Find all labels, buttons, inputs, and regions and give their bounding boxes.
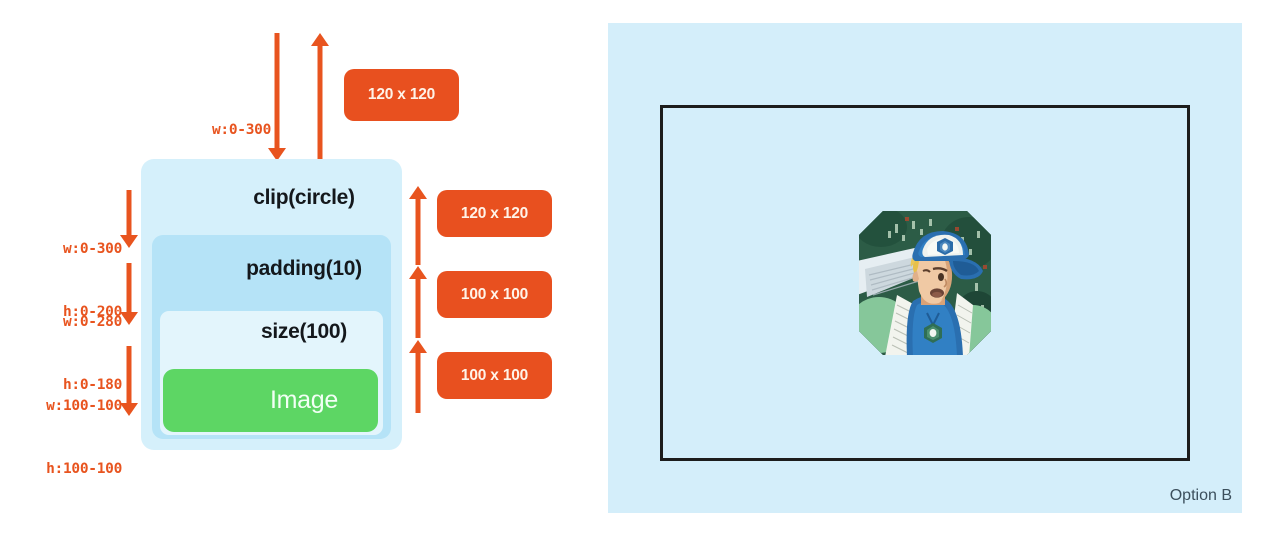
arrow-down-padding-to-size <box>120 263 138 325</box>
arrow-shaft <box>416 277 421 338</box>
badge-resolved-padding: 100 x 100 <box>437 271 552 318</box>
diagram-canvas: w:0-300 h:0-200 120 x 120 clip(circle) p… <box>0 0 1272 534</box>
arrow-shaft <box>318 44 323 161</box>
arrow-shaft <box>127 263 132 314</box>
arrow-down-clip-to-padding <box>120 190 138 248</box>
arrow-head <box>409 266 427 279</box>
constraint-width-size: w:100-100 <box>8 396 122 417</box>
arrow-shaft <box>275 33 280 150</box>
arrow-up-clip-resolved <box>409 186 427 265</box>
constraint-height-size: h:100-100 <box>8 459 122 480</box>
badge-resolved-top: 120 x 120 <box>344 69 459 121</box>
preview-frame-border <box>660 105 1190 461</box>
arrow-up-size-out <box>311 33 329 161</box>
arrow-down-size-to-image <box>120 346 138 416</box>
arrow-head <box>120 235 138 248</box>
arrow-up-size-resolved <box>409 340 427 413</box>
badge-resolved-clip: 120 x 120 <box>437 190 552 237</box>
arrow-head <box>120 312 138 325</box>
arrow-head <box>409 340 427 353</box>
arrow-head <box>120 403 138 416</box>
arrow-head <box>311 33 329 46</box>
preview-panel: Option B <box>608 23 1242 513</box>
constraint-width-incoming: w:0-300 <box>165 120 271 141</box>
constraint-width-clip: w:0-300 <box>22 239 122 260</box>
arrow-shaft <box>127 346 132 405</box>
badge-resolved-size: 100 x 100 <box>437 352 552 399</box>
layout-constraint-diagram: w:0-300 h:0-200 120 x 120 clip(circle) p… <box>0 0 608 534</box>
preview-caption: Option B <box>1170 487 1232 505</box>
arrow-shaft <box>416 197 421 265</box>
arrow-down-constraints-in <box>268 33 286 161</box>
arrow-head <box>409 186 427 199</box>
arrow-shaft <box>127 190 132 237</box>
arrow-up-padding-resolved <box>409 266 427 338</box>
arrow-shaft <box>416 351 421 413</box>
clipped-avatar-image <box>857 209 993 357</box>
constraint-label-size-to-image: w:100-100 h:100-100 <box>8 354 122 522</box>
constraint-width-padding: w:0-280 <box>22 312 122 333</box>
